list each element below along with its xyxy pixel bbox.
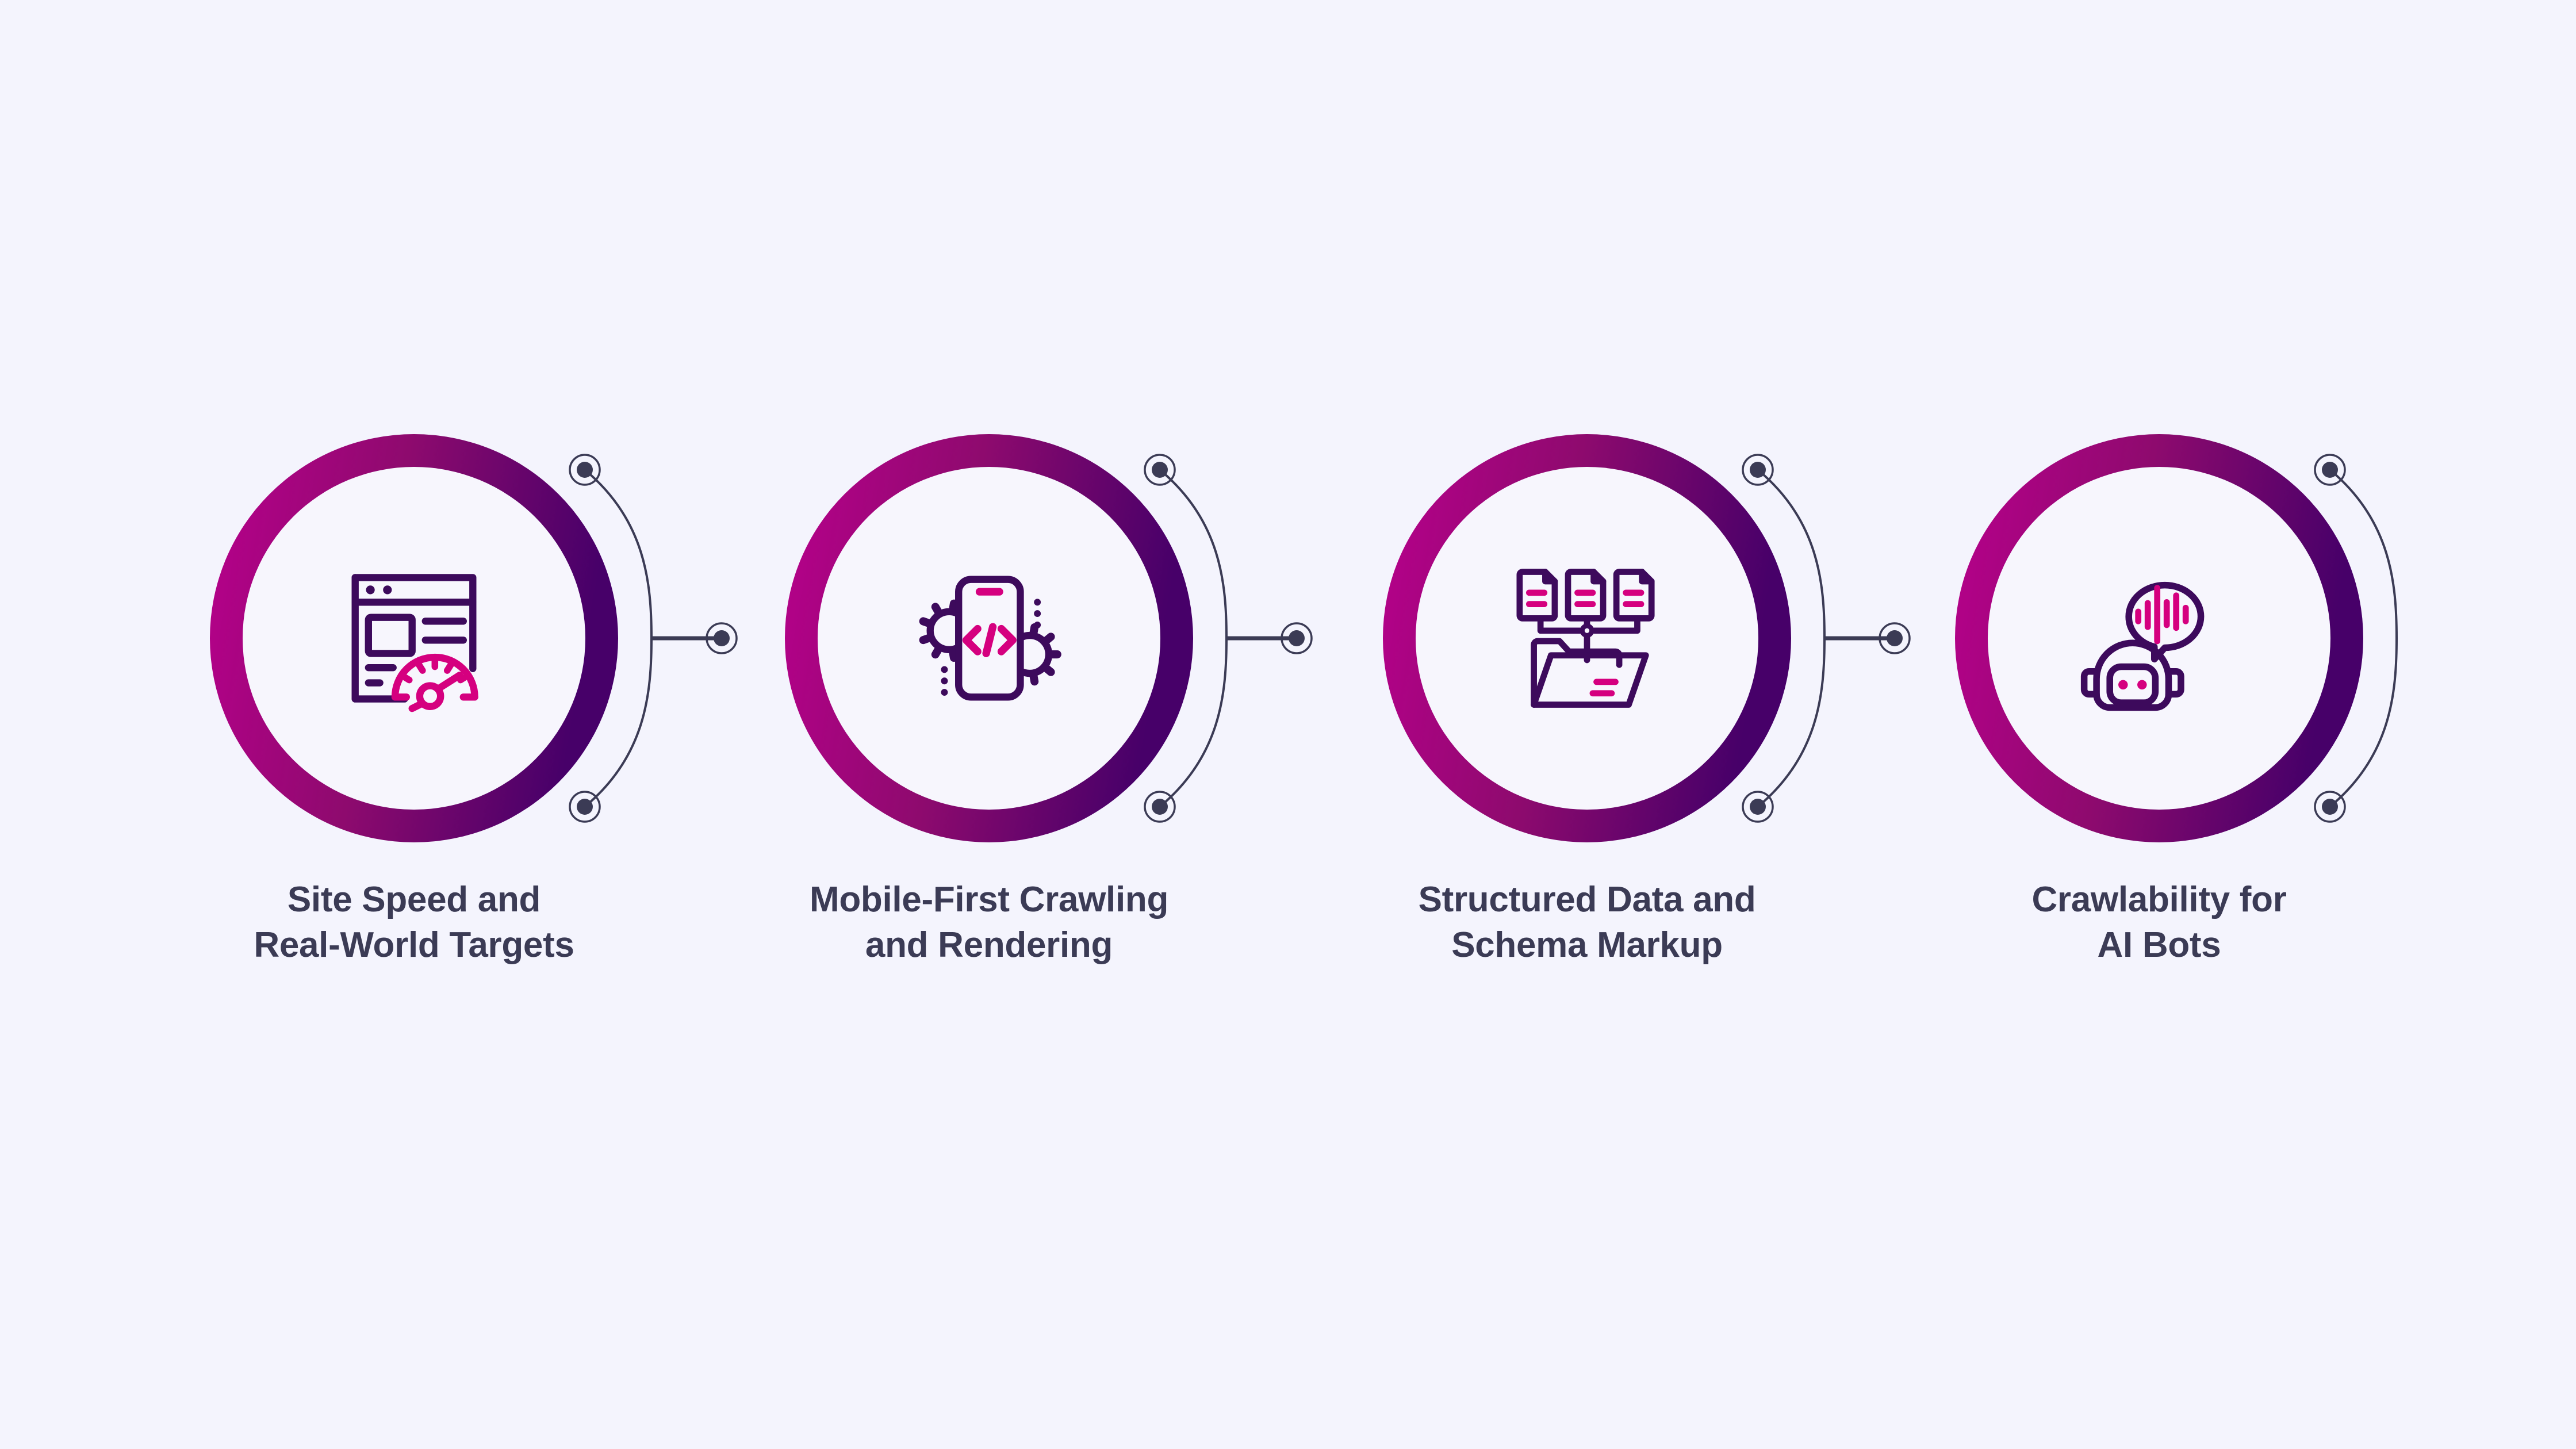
step-label-2: Mobile-First Crawlingand Rendering [739, 877, 1239, 968]
step-label-line1: Crawlability for [1909, 877, 2409, 922]
step-label-line1: Structured Data and [1337, 877, 1837, 922]
step-label-line1: Mobile-First Crawling [739, 877, 1239, 922]
step-label-1: Site Speed andReal-World Targets [164, 877, 664, 968]
connector-2 [1124, 434, 1423, 842]
step-label-line2: and Rendering [739, 922, 1239, 968]
step-label-line2: Real-World Targets [164, 922, 664, 968]
steps-row: Site Speed andReal-World Targets Mobile-… [0, 0, 2576, 1449]
step-label-3: Structured Data andSchema Markup [1337, 877, 1837, 968]
step-label-line2: Schema Markup [1337, 922, 1837, 968]
infographic-canvas: Site Speed andReal-World Targets Mobile-… [0, 0, 2576, 1449]
step-label-line2: AI Bots [1909, 922, 2409, 968]
connector-3 [1722, 434, 2021, 842]
step-label-4: Crawlability forAI Bots [1909, 877, 2409, 968]
step-label-line1: Site Speed and [164, 877, 664, 922]
connector-4 [2294, 434, 2576, 842]
connector-1 [549, 434, 848, 842]
